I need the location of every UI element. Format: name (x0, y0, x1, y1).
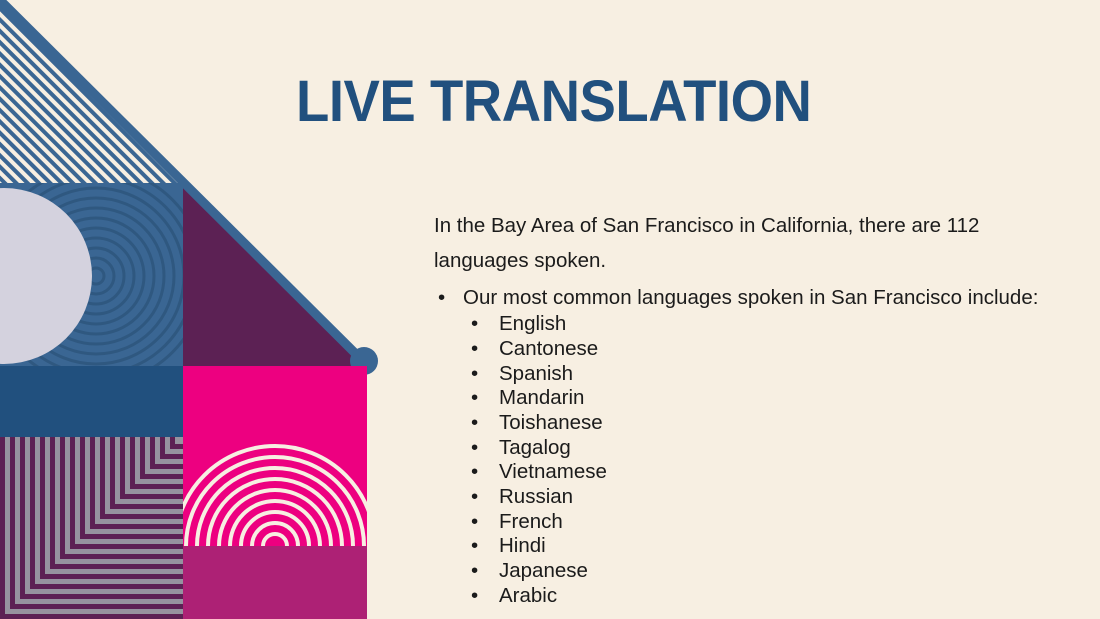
bullet-glyph-icon: • (471, 510, 478, 535)
list-item: • Hindi (463, 534, 1070, 559)
language-name: Hindi (499, 534, 546, 559)
list-item: • Spanish (463, 362, 1070, 387)
language-name: Tagalog (499, 436, 571, 461)
list-item: • Cantonese (463, 337, 1070, 362)
intro-paragraph: In the Bay Area of San Francisco in Cali… (434, 208, 1070, 279)
rings-square-steel-blue (0, 168, 204, 384)
language-name: Spanish (499, 362, 573, 387)
plum-block (183, 183, 367, 366)
language-name: Toishanese (499, 411, 603, 436)
language-name: French (499, 510, 563, 535)
bullet-list-level-1: • Our most common languages spoken in Sa… (434, 285, 1070, 609)
accent-dot (350, 347, 378, 375)
deep-magenta-bar (183, 546, 367, 619)
bullet-glyph-icon: • (471, 337, 478, 362)
list-item: • Arabic (463, 584, 1070, 609)
list-item: • Japanese (463, 559, 1070, 584)
bullet-glyph-icon: • (471, 362, 478, 387)
bullet-glyph-icon: • (471, 559, 478, 584)
language-name: Mandarin (499, 386, 584, 411)
language-name: Cantonese (499, 337, 598, 362)
bullet-glyph-icon: • (471, 386, 478, 411)
bullet-glyph-icon: • (471, 411, 478, 436)
list-item: • Tagalog (463, 436, 1070, 461)
list-item: • Toishanese (463, 411, 1070, 436)
bullet-glyph-icon: • (438, 285, 445, 311)
bullet-label: Our most common languages spoken in San … (463, 285, 1038, 311)
language-name: Japanese (499, 559, 588, 584)
bullet-glyph-icon: • (471, 485, 478, 510)
magenta-arcs-square (175, 366, 375, 619)
list-item: • Russian (463, 485, 1070, 510)
language-name: Vietnamese (499, 460, 607, 485)
language-name: Russian (499, 485, 573, 510)
nested-corner-stripes-square (0, 437, 183, 619)
bullet-glyph-icon: • (471, 436, 478, 461)
list-item: • English (463, 312, 1070, 337)
list-item: • French (463, 510, 1070, 535)
page-title: LIVE TRANSLATION (296, 72, 811, 133)
list-item: • Vietnamese (463, 460, 1070, 485)
slide-canvas: LIVE TRANSLATION In the Bay Area of San … (0, 0, 1100, 619)
navy-bar (0, 366, 183, 437)
bullet-glyph-icon: • (471, 312, 478, 337)
bullet-glyph-icon: • (471, 584, 478, 609)
language-name: Arabic (499, 584, 557, 609)
list-item: • Mandarin (463, 386, 1070, 411)
bullet-glyph-icon: • (471, 460, 478, 485)
language-list: • English • Cantonese • Spanish • Mandar… (463, 312, 1070, 608)
cream-wedge (183, 183, 367, 366)
diagonal-accent-line (0, 0, 363, 361)
striped-triangle-top-left (0, 0, 183, 183)
bullet-glyph-icon: • (471, 534, 478, 559)
bullet-item-languages-intro: • Our most common languages spoken in Sa… (434, 285, 1070, 609)
lavender-half-circle (0, 188, 92, 364)
language-name: English (499, 312, 566, 337)
slide-body: In the Bay Area of San Francisco in Cali… (434, 208, 1070, 611)
